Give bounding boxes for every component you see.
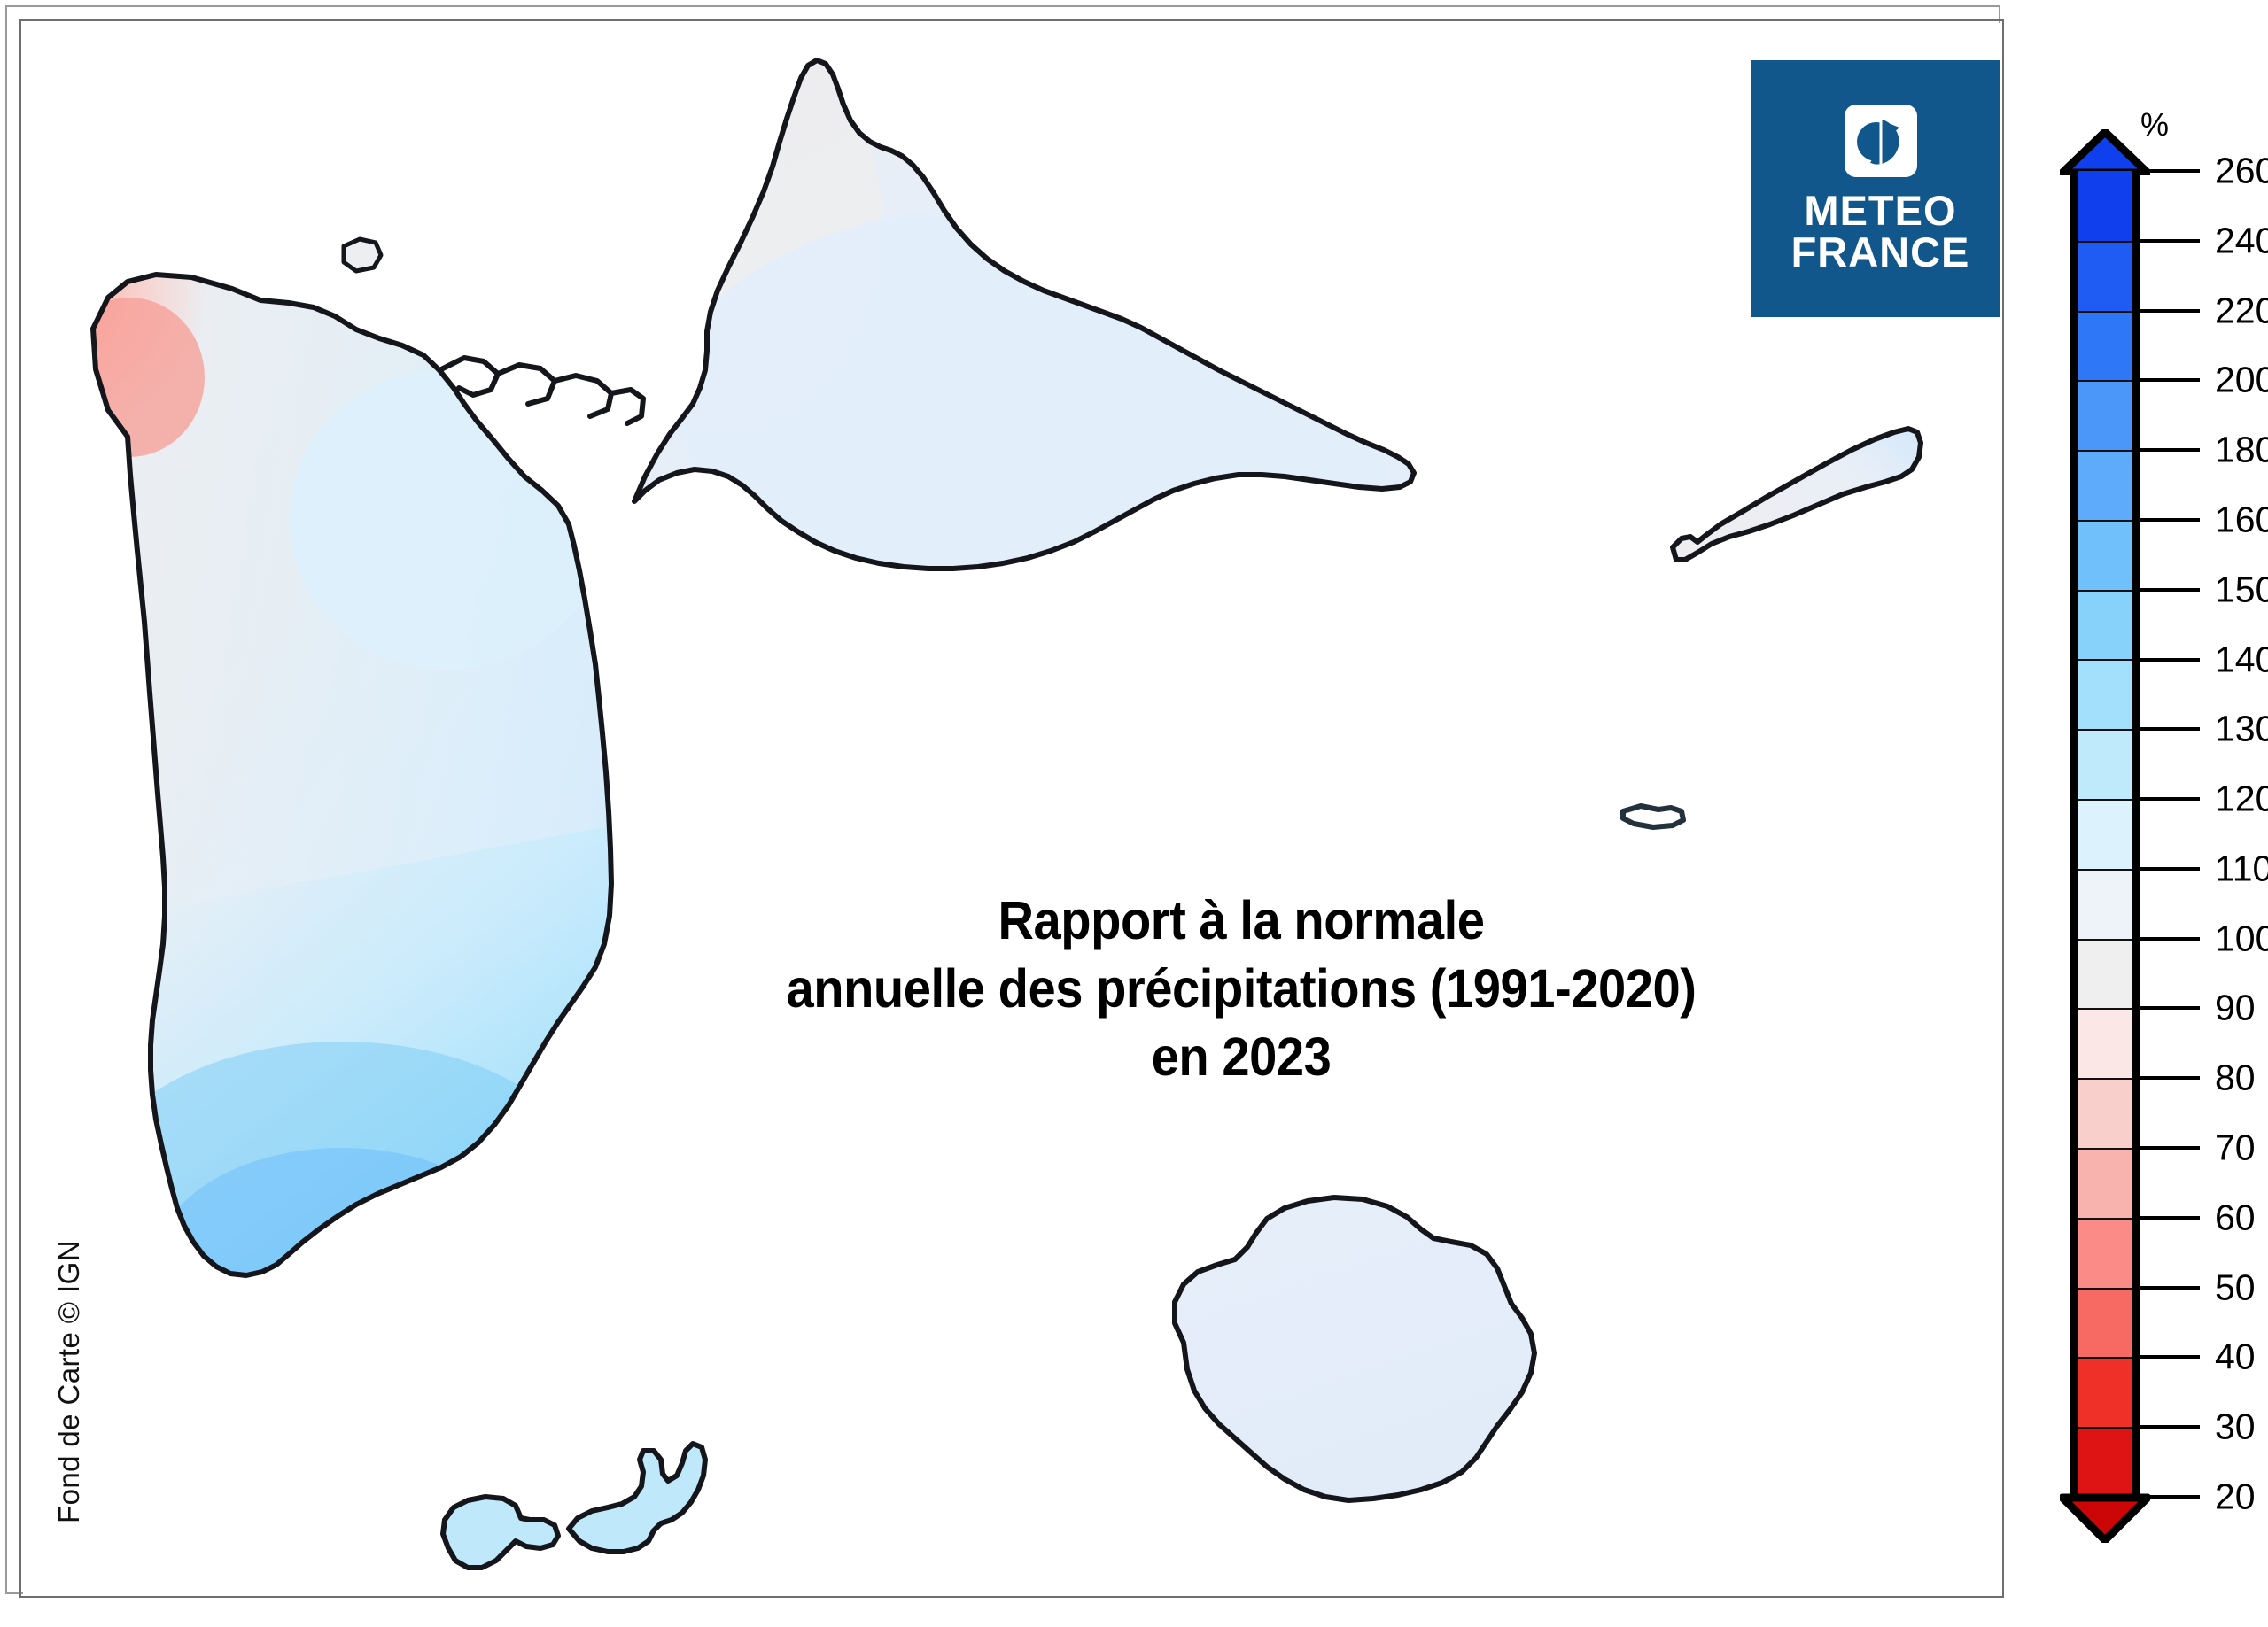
colorbar-tick-label: 110 — [2215, 848, 2268, 889]
colorbar-tick-label: 260 — [2215, 151, 2268, 192]
colorbar-tick-label: 160 — [2215, 499, 2268, 540]
colorbar-tick-line — [2140, 1216, 2200, 1220]
colorbar-tick-line — [2140, 239, 2200, 243]
logo-line-1: METEO — [1791, 190, 1970, 231]
meteo-france-wordmark: METEO FRANCE — [1791, 190, 1970, 273]
colorbar-tick-line — [2140, 309, 2200, 313]
colorbar-tick-line — [2140, 1355, 2200, 1359]
colorbar-tick-label: 90 — [2215, 988, 2256, 1029]
colorbar-tick-label: 200 — [2215, 360, 2268, 401]
guadeloupe-map — [23, 23, 2000, 1594]
islet-kahouanne — [344, 239, 381, 271]
colorbar-tick-label: 130 — [2215, 709, 2268, 750]
colorbar-tick-line — [2140, 448, 2200, 452]
colorbar-tick-line — [2140, 1425, 2200, 1429]
colorbar-tick-label: 220 — [2215, 290, 2268, 331]
title-line-3: en 2023 — [740, 1023, 1743, 1091]
island-la-desirade — [1673, 429, 1921, 560]
colorbar-tick-line — [2140, 1286, 2200, 1290]
title-line-2: annuelle des précipitations (1991-2020) — [740, 955, 1743, 1023]
title-line-1: Rapport à la normale — [740, 887, 1743, 955]
colorbar-tick-label: 70 — [2215, 1127, 2256, 1169]
colorbar-tick-line — [2140, 169, 2200, 173]
map-canvas: Fond de Carte © IGN METEO FRANCE Rapport… — [23, 23, 2000, 1594]
colorbar-tick-label: 180 — [2215, 430, 2268, 471]
meteo-france-logo: METEO FRANCE — [1751, 60, 2000, 317]
colorbar-tick-line — [2140, 867, 2200, 871]
colorbar-tick-label: 80 — [2215, 1058, 2256, 1099]
colorbar-tick-label: 20 — [2215, 1476, 2256, 1518]
colorbar-tick-line — [2140, 518, 2200, 522]
islet-petite-terre — [1623, 806, 1683, 827]
colorbar-tick-line — [2140, 937, 2200, 941]
colorbar-tick-line — [2140, 1495, 2200, 1499]
colorbar-tick-line — [2140, 1146, 2200, 1150]
colorbar-tick-label: 40 — [2215, 1336, 2256, 1378]
colorbar-tick-label: 150 — [2215, 569, 2268, 610]
island-marie-galante — [1175, 1197, 1534, 1500]
colorbar-tick-label: 100 — [2215, 918, 2268, 959]
meteo-france-globe-arrow-icon — [1845, 105, 1917, 177]
colorbar-tick-line — [2140, 378, 2200, 382]
colorbar-tick-label: 120 — [2215, 779, 2268, 820]
islands-les-saintes — [443, 1444, 705, 1568]
colorbar-tick-line — [2140, 727, 2200, 731]
colorbar-tick-line — [2140, 588, 2200, 592]
colorbar-tick-label: 140 — [2215, 639, 2268, 680]
colorbar-tick-label: 30 — [2215, 1406, 2256, 1448]
colorbar-tick-label: 60 — [2215, 1197, 2256, 1238]
colorbar: % 26024022020018016015014013012011010090… — [2055, 106, 2268, 1612]
colorbar-tick-line — [2140, 1006, 2200, 1010]
logo-line-2: FRANCE — [1791, 231, 1970, 273]
colorbar-tick-line — [2140, 658, 2200, 662]
colorbar-ticks: 2602402202001801601501401301201101009080… — [2055, 106, 2268, 1612]
map-credit: Fond de Carte © IGN — [52, 1196, 86, 1568]
island-grande-terre — [563, 23, 1441, 599]
colorbar-tick-line — [2140, 1076, 2200, 1080]
colorbar-tick-label: 240 — [2215, 220, 2268, 261]
page-title: Rapport à la normale annuelle des précip… — [740, 887, 1743, 1091]
colorbar-tick-line — [2140, 797, 2200, 801]
colorbar-tick-label: 50 — [2215, 1267, 2256, 1308]
